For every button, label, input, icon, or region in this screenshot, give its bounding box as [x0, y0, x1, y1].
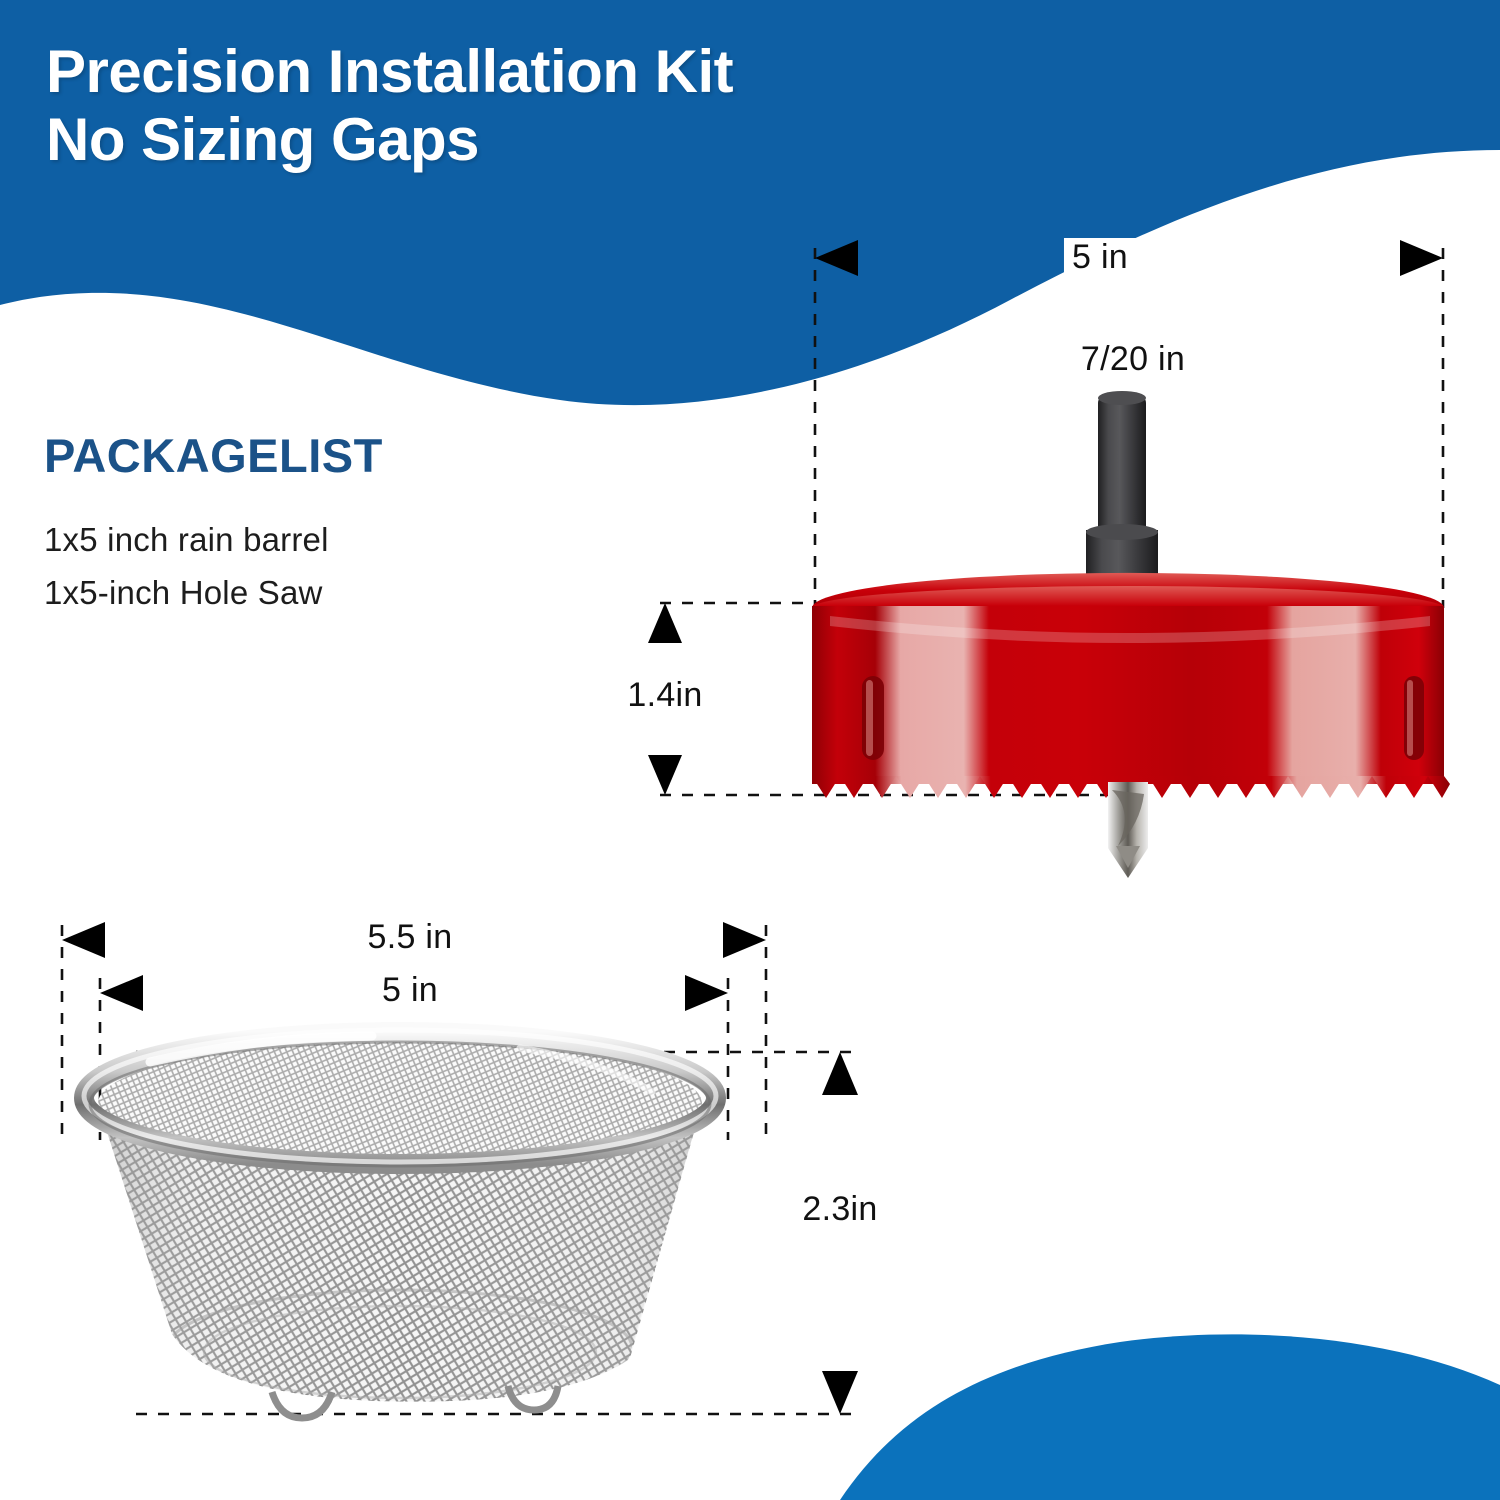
basket-body-diameter-label: 5 in [374, 971, 446, 1010]
package-list-item-2: 1x5-inch Hole Saw [44, 566, 383, 619]
page-title-line-1: Precision Installation Kit [46, 38, 946, 106]
hole-saw-depth-label: 1.4in [619, 676, 710, 715]
basket-height-label: 2.3in [794, 1190, 885, 1229]
page-title: Precision Installation Kit No Sizing Gap… [46, 38, 946, 174]
hole-saw-teeth [812, 776, 1450, 798]
product-infographic: Precision Installation Kit No Sizing Gap… [0, 0, 1500, 1500]
package-list-block: PACKAGELIST 1x5 inch rain barrel 1x5-inc… [44, 432, 383, 620]
hole-saw-diameter-label: 5 in [1064, 238, 1136, 277]
hole-saw-slot [862, 676, 1424, 760]
page-title-line-2: No Sizing Gaps [46, 106, 946, 174]
basket-rim-diameter-label: 5.5 in [360, 918, 461, 957]
footer-wave-background [0, 1280, 1500, 1500]
hole-saw-pilot-drill-bit [1108, 782, 1148, 878]
hole-saw-shank-label: 7/20 in [1073, 340, 1193, 379]
package-list-heading: PACKAGELIST [44, 432, 383, 479]
hole-saw-arbor [1078, 391, 1166, 598]
package-list-item-1: 1x5 inch rain barrel [44, 513, 383, 566]
hole-saw-body [812, 573, 1450, 798]
